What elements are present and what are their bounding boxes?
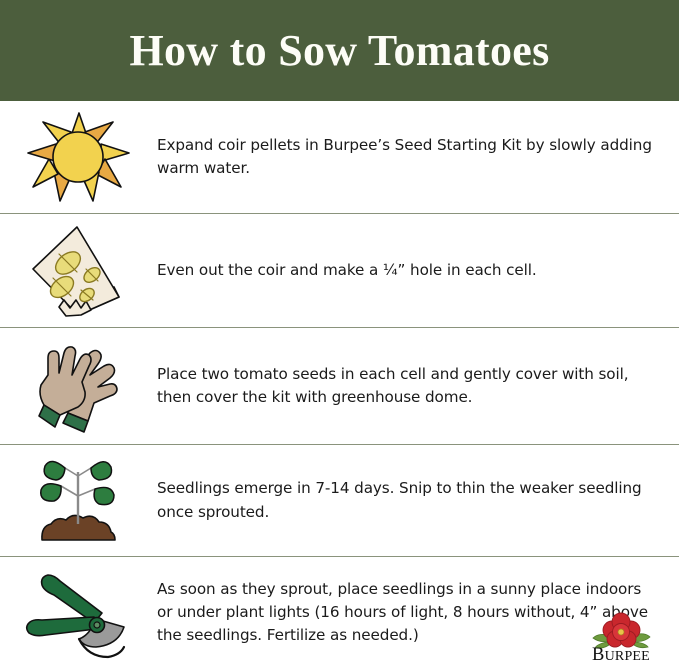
step-4-text-cell: Seedlings emerge in 7-14 days. Snip to t… — [157, 477, 679, 523]
step-1-text-cell: Expand coir pellets in Burpee’s Seed Sta… — [157, 134, 679, 180]
step-row-4: Seedlings emerge in 7-14 days. Snip to t… — [0, 445, 679, 557]
step-1-text: Expand coir pellets in Burpee’s Seed Sta… — [157, 134, 657, 180]
step-3-text-cell: Place two tomato seeds in each cell and … — [157, 363, 679, 409]
burpee-wordmark: BURPEE — [573, 646, 669, 665]
page-title: How to Sow Tomatoes — [129, 29, 549, 73]
step-row-1: Expand coir pellets in Burpee’s Seed Sta… — [0, 101, 679, 214]
step-2-text-cell: Even out the coir and make a ¼” hole in … — [157, 259, 679, 282]
header-banner: How to Sow Tomatoes — [0, 0, 679, 101]
step-row-2: Even out the coir and make a ¼” hole in … — [0, 214, 679, 328]
step-5-icon-cell — [0, 557, 157, 668]
burpee-logo: BURPEE — [573, 610, 669, 664]
step-3-text: Place two tomato seeds in each cell and … — [157, 363, 657, 409]
step-4-icon-cell — [0, 445, 157, 556]
burpee-wordmark-initial: B — [592, 645, 605, 665]
gardening-gloves-icon — [28, 337, 130, 435]
infographic-root: How to Sow Tomatoes — [0, 0, 679, 668]
sun-icon — [27, 111, 131, 203]
step-4-text: Seedlings emerge in 7-14 days. Snip to t… — [157, 477, 657, 523]
burpee-wordmark-rest: URPEE — [605, 649, 650, 664]
seed-packet-icon — [28, 225, 130, 317]
seedling-icon — [29, 456, 129, 546]
steps-list: Expand coir pellets in Burpee’s Seed Sta… — [0, 101, 679, 668]
step-1-icon-cell — [0, 101, 157, 213]
step-3-icon-cell — [0, 328, 157, 444]
step-row-3: Place two tomato seeds in each cell and … — [0, 328, 679, 445]
step-2-icon-cell — [0, 214, 157, 327]
step-2-text: Even out the coir and make a ¼” hole in … — [157, 259, 657, 282]
step-row-5: As soon as they sprout, place seedlings … — [0, 557, 679, 668]
pruning-shears-icon — [24, 565, 134, 661]
